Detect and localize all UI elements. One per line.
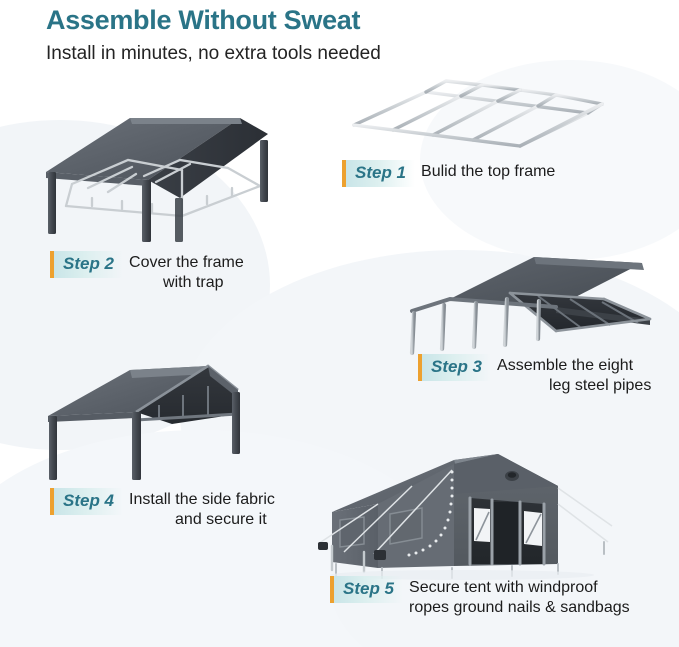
step-2-illustration: [32, 112, 302, 247]
step-text-line1: Assemble the eight: [497, 357, 633, 374]
step-caption: Step 1 Bulid the top frame: [342, 160, 662, 187]
step-1-caption-block: Step 1 Bulid the top frame: [342, 160, 662, 187]
carport-canopy-with-legs-svg: [404, 255, 670, 360]
carport-canopy-covered-svg: [32, 112, 302, 247]
step-2-caption-block: Step 2 Cover the frame with trap: [50, 251, 350, 294]
step-text-line2: with trap: [129, 273, 244, 293]
step-5-caption-block: Step 5 Secure tent with windproof ropes …: [330, 576, 679, 619]
step-text-line2: and secure it: [129, 510, 275, 530]
step-5-illustration: [312, 442, 672, 582]
step-3-caption-block: Step 3 Assemble the eight leg steel pipe…: [418, 354, 678, 397]
step-badge: Step 1: [342, 160, 415, 187]
step-text-line1: Install the side fabric: [129, 491, 275, 508]
step-badge: Step 3: [418, 354, 491, 381]
step-text: Cover the frame with trap: [123, 251, 244, 294]
step-1-illustration: [330, 66, 630, 166]
step-text-line2: ropes ground nails & sandbags: [409, 598, 630, 618]
step-text-line1: Bulid the top frame: [421, 163, 555, 180]
step-text-line2: leg steel pipes: [497, 376, 651, 396]
step-text: Bulid the top frame: [415, 160, 555, 182]
step-text-line1: Cover the frame: [129, 254, 244, 271]
step-badge: Step 2: [50, 251, 123, 278]
carport-fully-enclosed-tent-svg: [312, 442, 672, 582]
step-badge: Step 5: [330, 576, 403, 603]
step-caption: Step 3 Assemble the eight leg steel pipe…: [418, 354, 678, 397]
step-text-line1: Secure tent with windproof: [409, 579, 598, 596]
carport-top-frame-skeleton-svg: [330, 66, 630, 166]
step-text: Install the side fabric and secure it: [123, 488, 275, 531]
step-text: Secure tent with windproof ropes ground …: [403, 576, 630, 619]
step-4-caption-block: Step 4 Install the side fabric and secur…: [50, 488, 350, 531]
step-3-illustration: [404, 255, 670, 360]
step-caption: Step 2 Cover the frame with trap: [50, 251, 350, 294]
step-caption: Step 4 Install the side fabric and secur…: [50, 488, 350, 531]
page-title: Assemble Without Sweat: [0, 0, 679, 38]
step-4-illustration: [32, 358, 304, 486]
step-caption: Step 5 Secure tent with windproof ropes …: [330, 576, 679, 619]
carport-side-fabric-svg: [32, 358, 304, 486]
step-badge: Step 4: [50, 488, 123, 515]
header: Assemble Without Sweat Install in minute…: [0, 0, 679, 66]
step-text: Assemble the eight leg steel pipes: [491, 354, 651, 397]
page-subtitle: Install in minutes, no extra tools neede…: [0, 38, 679, 66]
